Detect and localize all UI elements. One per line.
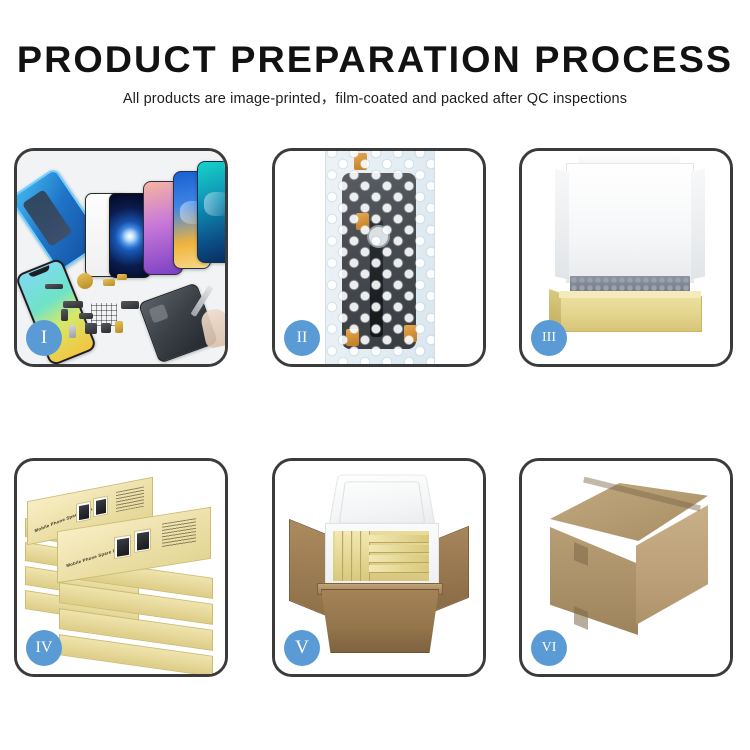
process-step-panel-5[interactable]: V: [272, 458, 486, 677]
process-step-panel-6[interactable]: VI: [519, 458, 733, 677]
process-step-grid: I II: [0, 0, 750, 750]
panel-2-image: II: [275, 151, 483, 364]
product-preparation-infographic: PRODUCT PREPARATION PROCESS All products…: [0, 0, 750, 750]
process-step-panel-1[interactable]: I: [14, 148, 228, 367]
step-badge-5: V: [284, 630, 320, 666]
step-badge-6: VI: [531, 630, 567, 666]
sim-tray-part: [69, 325, 76, 338]
process-step-panel-4[interactable]: Mobile Phone Spare Parts Mobile Phone Sp…: [14, 458, 228, 677]
bracket-part-b: [117, 274, 127, 280]
step-badge-1: I: [26, 320, 62, 356]
panel-3-image: III: [522, 151, 730, 364]
ribbon-part: [121, 301, 139, 309]
yellow-box-h2: [369, 545, 429, 553]
step-badge-3: III: [531, 320, 567, 356]
box-swatch-rear-a: [76, 501, 91, 523]
vibrator-part: [101, 323, 111, 333]
yellow-box-h3: [369, 555, 429, 563]
connector-strip-part: [45, 284, 63, 289]
box-foam-lid: [566, 163, 694, 283]
step-badge-4: IV: [26, 630, 62, 666]
panel-1-image: I: [17, 151, 225, 364]
speaker-part: [77, 273, 93, 289]
yellow-box-h1: [369, 535, 429, 543]
antenna-part: [79, 313, 93, 319]
process-step-panel-3[interactable]: III: [519, 148, 733, 367]
shield-part: [115, 321, 123, 333]
carton-front-face: [550, 527, 638, 635]
yellow-mailer-base: [558, 296, 702, 332]
panel-5-image: V: [275, 461, 483, 674]
packed-yellow-boxes: [333, 531, 429, 581]
phone-teal-gradient: [197, 161, 225, 263]
box-swatch-front-a: [114, 534, 131, 559]
yellow-box-h4: [369, 565, 429, 573]
yellow-box-v2: [344, 531, 352, 581]
button-part: [61, 309, 68, 321]
camera-module-part: [85, 323, 97, 334]
panel-4-image: Mobile Phone Spare Parts Mobile Phone Sp…: [17, 461, 225, 674]
bubble-wrap-bag: [325, 151, 435, 364]
panel-6-image: VI: [522, 461, 730, 674]
yellow-box-v3: [353, 531, 361, 581]
carton-body: [321, 589, 439, 653]
bubble-texture: [326, 151, 434, 364]
step-badge-2: II: [284, 320, 320, 356]
box-swatch-rear-b: [93, 496, 108, 518]
box-swatch-front-b: [134, 528, 151, 553]
bracket-part-a: [103, 279, 115, 286]
yellow-box-v1: [335, 531, 343, 581]
process-step-panel-2[interactable]: II: [272, 148, 486, 367]
flex-cable-part: [63, 301, 83, 308]
